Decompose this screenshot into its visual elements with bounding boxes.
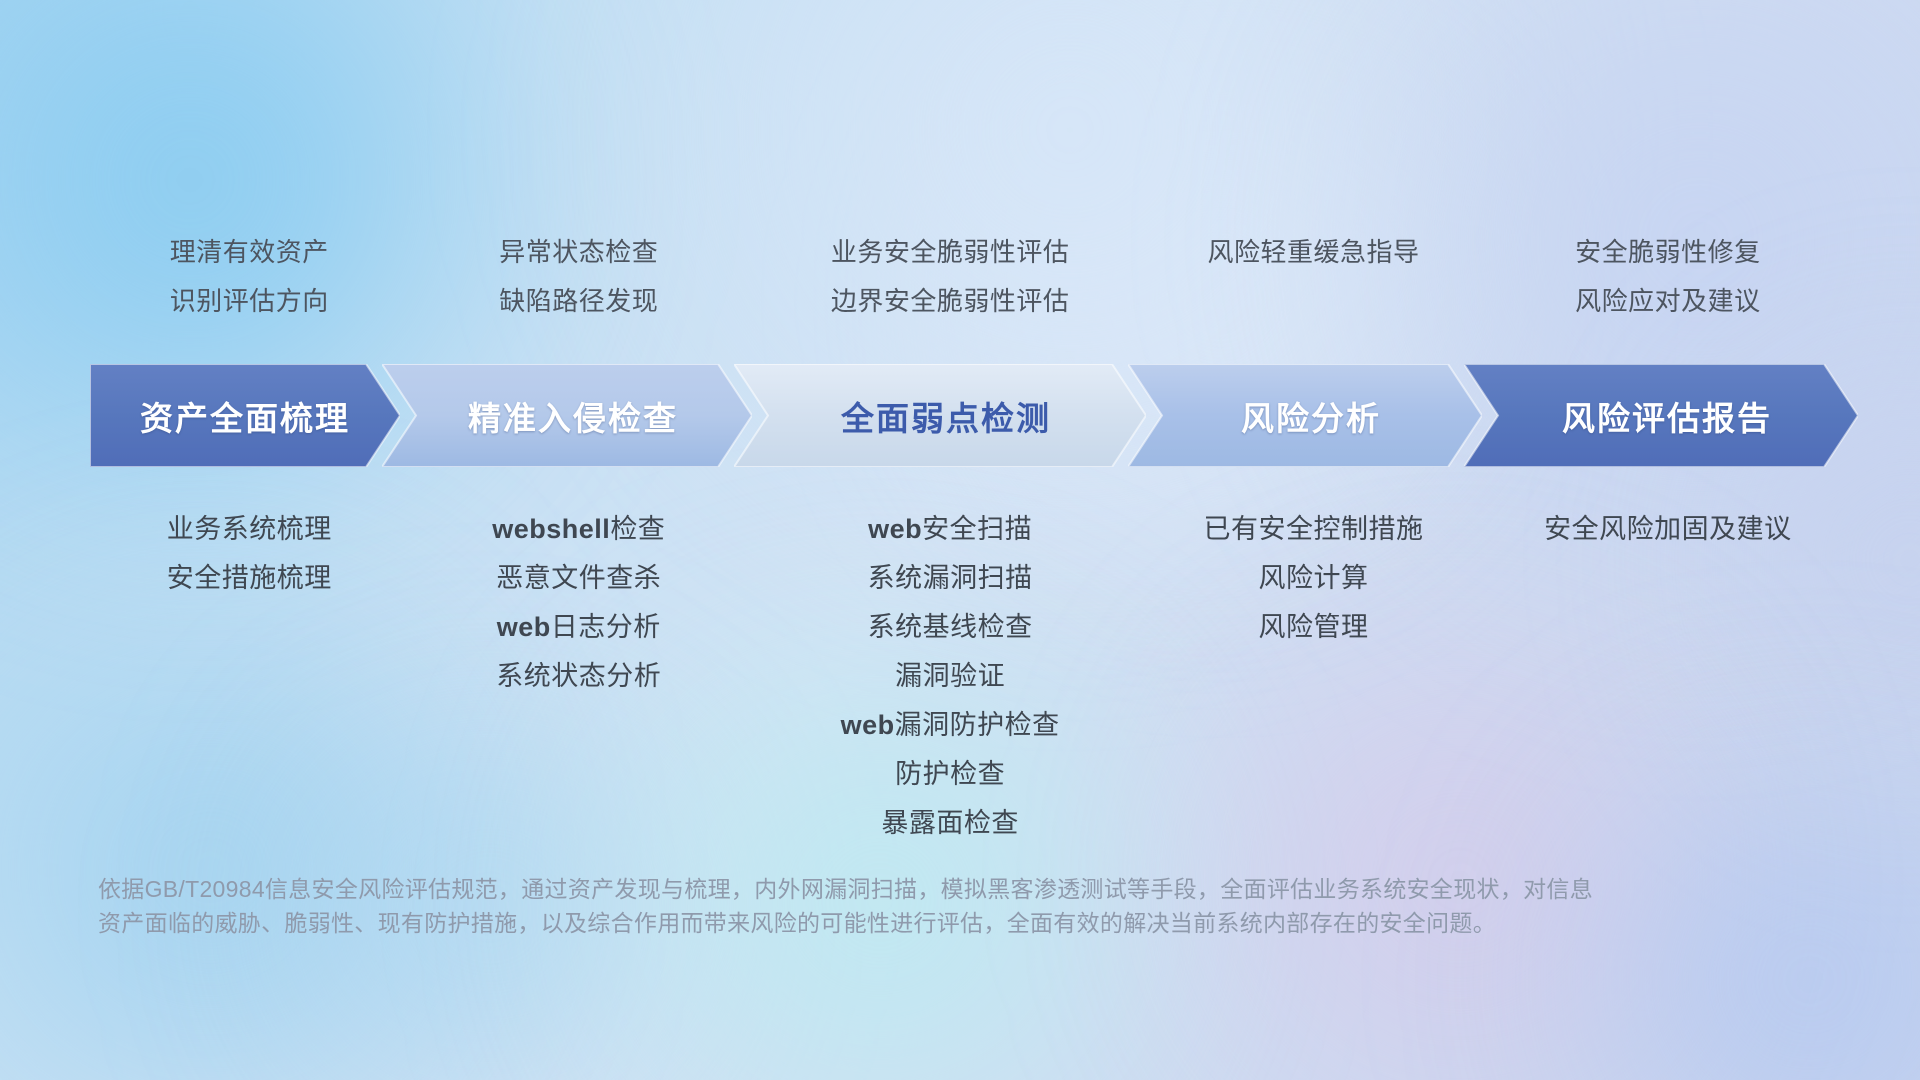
detail-list-column-2: webshell检查恶意文件查杀web日志分析系统状态分析: [404, 505, 754, 848]
detail-list-item: 系统基线检查: [868, 603, 1033, 652]
process-stage-1[interactable]: 资产全面梳理: [90, 364, 400, 467]
top-note-line: 理清有效资产: [170, 228, 329, 277]
detail-list-item: 风险管理: [1258, 603, 1368, 652]
detail-list-item: 系统漏洞扫描: [868, 554, 1033, 603]
detail-list-item: 恶意文件查杀: [496, 554, 661, 603]
detail-list-item: 系统状态分析: [496, 652, 661, 701]
top-note-line: 异常状态检查: [499, 228, 658, 277]
top-note-line: 风险轻重缓急指导: [1207, 228, 1419, 277]
detail-list-item-lead: web: [868, 514, 922, 544]
detail-list-item: 漏洞验证: [895, 652, 1005, 701]
top-note-column-3: 业务安全脆弱性评估边界安全脆弱性评估: [754, 228, 1146, 338]
detail-list-column-4: 已有安全控制措施风险计算风险管理: [1146, 505, 1480, 848]
footer-description: 依据GB/T20984信息安全风险评估规范，通过资产发现与梳理，内外网漏洞扫描，…: [98, 872, 1638, 940]
detail-list-item: web安全扫描: [868, 505, 1032, 554]
detail-list-item: 暴露面检查: [881, 799, 1019, 848]
detail-list-item-lead: webshell: [492, 514, 610, 544]
process-stage-5[interactable]: 风险评估报告: [1464, 364, 1858, 467]
detail-list-item-text: 检查: [610, 514, 665, 544]
bottom-detail-lists: 业务系统梳理安全措施梳理webshell检查恶意文件查杀web日志分析系统状态分…: [95, 505, 1855, 848]
detail-list-item: 已有安全控制措施: [1203, 505, 1423, 554]
detail-list-column-3: web安全扫描系统漏洞扫描系统基线检查漏洞验证web漏洞防护检查防护检查暴露面检…: [754, 505, 1146, 848]
process-stage-4[interactable]: 风险分析: [1128, 364, 1482, 467]
detail-list-item: web日志分析: [497, 603, 661, 652]
top-note-column-1: 理清有效资产识别评估方向: [95, 228, 404, 338]
top-note-line: 缺陷路径发现: [499, 277, 658, 326]
top-notes-row: 理清有效资产识别评估方向异常状态检查缺陷路径发现业务安全脆弱性评估边界安全脆弱性…: [95, 228, 1855, 338]
detail-list-column-5: 安全风险加固及建议: [1481, 505, 1855, 848]
detail-list-column-1: 业务系统梳理安全措施梳理: [95, 505, 404, 848]
top-note-line: 安全脆弱性修复: [1575, 228, 1761, 277]
footer-line-2: 资产面临的威胁、脆弱性、现有防护措施，以及综合作用而带来风险的可能性进行评估，全…: [98, 906, 1638, 940]
process-stage-2[interactable]: 精准入侵检查: [382, 364, 752, 467]
top-note-column-4: 风险轻重缓急指导: [1146, 228, 1480, 338]
process-stage-label: 精准入侵检查: [468, 392, 678, 440]
detail-list-item-lead: web: [497, 612, 551, 642]
detail-list-item: 安全风险加固及建议: [1544, 505, 1792, 554]
top-note-column-5: 安全脆弱性修复风险应对及建议: [1481, 228, 1855, 338]
top-note-line: 业务安全脆弱性评估: [831, 228, 1070, 277]
detail-list-item: 业务系统梳理: [167, 505, 332, 554]
footer-line-1: 依据GB/T20984信息安全风险评估规范，通过资产发现与梳理，内外网漏洞扫描，…: [98, 872, 1638, 906]
process-stage-label: 资产全面梳理: [140, 392, 350, 440]
infographic-stage: 理清有效资产识别评估方向异常状态检查缺陷路径发现业务安全脆弱性评估边界安全脆弱性…: [0, 0, 1920, 1080]
process-stage-label: 全面弱点检测: [841, 392, 1051, 440]
detail-list-item: 防护检查: [895, 750, 1005, 799]
detail-list-item: 风险计算: [1258, 554, 1368, 603]
top-note-column-2: 异常状态检查缺陷路径发现: [404, 228, 754, 338]
detail-list-item-lead: web: [841, 710, 895, 740]
process-stage-3[interactable]: 全面弱点检测: [734, 364, 1146, 467]
top-note-line: 风险应对及建议: [1575, 277, 1761, 326]
process-stage-label: 风险评估报告: [1562, 392, 1772, 440]
process-chevron-banner: 资产全面梳理精准入侵检查全面弱点检测风险分析风险评估报告: [90, 364, 1858, 467]
detail-list-item-text: 日志分析: [551, 612, 661, 642]
top-note-line: 边界安全脆弱性评估: [831, 277, 1070, 326]
detail-list-item: 安全措施梳理: [167, 554, 332, 603]
detail-list-item: web漏洞防护检查: [841, 701, 1060, 750]
process-stage-label: 风险分析: [1241, 392, 1381, 440]
top-note-line: 识别评估方向: [170, 277, 329, 326]
detail-list-item-text: 漏洞防护检查: [895, 710, 1060, 740]
detail-list-item: webshell检查: [492, 505, 665, 554]
detail-list-item-text: 安全扫描: [922, 514, 1032, 544]
